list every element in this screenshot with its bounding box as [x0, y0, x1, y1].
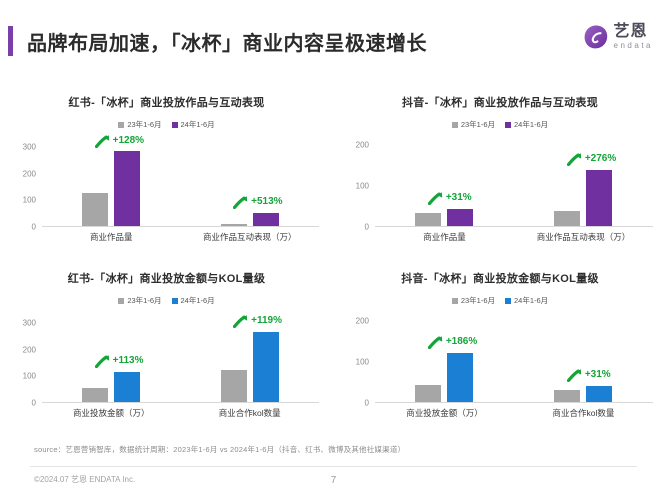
chart-title: 红书-「冰杯」商业投放金额与KOL量级	[0, 270, 333, 286]
legend-swatch-prev	[118, 298, 124, 304]
bar-group: 商业合作kol数量	[533, 315, 633, 402]
growth-annotation: +119%	[233, 313, 282, 328]
growth-value: +113%	[113, 355, 144, 366]
y-axis-tick: 0	[365, 223, 369, 232]
legend-label-curr: 24年1-6月	[514, 119, 548, 130]
legend-label-prev: 23年1-6月	[461, 295, 495, 306]
chart-panel-xiaohongshu-amount-kol: 红书-「冰杯」商业投放金额与KOL量级 23年1-6月 24年1-6月 0100…	[0, 254, 333, 430]
growth-value: +119%	[251, 315, 282, 326]
legend-label-prev: 23年1-6月	[461, 119, 495, 130]
growth-annotation: +128%	[95, 133, 144, 148]
legend-label-curr: 24年1-6月	[181, 119, 215, 130]
legend-item-prev: 23年1-6月	[452, 119, 495, 130]
y-axis: 0100200	[345, 139, 371, 247]
x-axis-category-label: 商业作品互动表现（万）	[537, 231, 631, 243]
chart-legend: 23年1-6月 24年1-6月	[333, 119, 667, 130]
page-number: 7	[0, 475, 667, 486]
bar-curr-year[interactable]	[253, 332, 279, 402]
y-axis-tick: 0	[365, 399, 369, 408]
growth-annotation: +513%	[233, 194, 282, 209]
bar-group: 商业投放金额（万）	[394, 315, 494, 402]
y-axis-tick: 0	[32, 223, 36, 232]
legend-item-prev: 23年1-6月	[118, 295, 161, 306]
x-axis-category-label: 商业合作kol数量	[553, 407, 615, 419]
plot-area: 0100200 商业作品量+31%商业作品互动表现（万）+276%	[345, 139, 655, 247]
bar-curr-year[interactable]	[114, 372, 140, 402]
growth-annotation: +113%	[95, 353, 144, 368]
chart-title: 红书-「冰杯」商业投放作品与互动表现	[0, 94, 333, 110]
bar-prev-year[interactable]	[554, 390, 580, 402]
charts-grid: 红书-「冰杯」商业投放作品与互动表现 23年1-6月 24年1-6月 01002…	[0, 78, 667, 430]
logo-text-en: endata	[614, 42, 653, 50]
y-axis: 0100200	[345, 315, 371, 423]
chart-legend: 23年1-6月 24年1-6月	[333, 295, 667, 306]
y-axis-tick: 200	[23, 345, 36, 354]
bar-curr-year[interactable]	[447, 209, 473, 226]
chart-title: 抖音-「冰杯」商业投放金额与KOL量级	[333, 270, 667, 286]
y-axis-tick: 100	[356, 358, 369, 367]
chart-legend: 23年1-6月 24年1-6月	[0, 295, 333, 306]
growth-value: +31%	[585, 369, 611, 380]
y-axis-tick: 200	[356, 141, 369, 150]
plot-area: 0100200300 商业作品量+128%商业作品互动表现（万）+513%	[12, 139, 321, 247]
legend-swatch-prev	[452, 298, 458, 304]
bar-curr-year[interactable]	[586, 386, 612, 402]
bars-container: 商业作品量+31%商业作品互动表现（万）+276%	[375, 139, 653, 227]
bar-curr-year[interactable]	[114, 151, 140, 226]
legend-swatch-curr	[505, 122, 511, 128]
y-axis: 0100200300	[12, 139, 38, 247]
brand-logo: 艺恩 endata	[583, 24, 653, 50]
y-axis: 0100200300	[12, 315, 38, 423]
plot-area: 0100200 商业投放金额（万）+186%商业合作kol数量+31%	[345, 315, 655, 423]
legend-swatch-curr	[172, 298, 178, 304]
bar-group: 商业作品互动表现（万）	[200, 139, 300, 226]
legend-item-curr: 24年1-6月	[172, 119, 215, 130]
footer-divider	[30, 466, 637, 467]
legend-label-curr: 24年1-6月	[514, 295, 548, 306]
x-axis-category-label: 商业作品互动表现（万）	[203, 231, 297, 243]
chart-panel-douyin-works: 抖音-「冰杯」商业投放作品与互动表现 23年1-6月 24年1-6月 01002…	[333, 78, 667, 254]
source-note: source：艺恩营销智库，数据统计周期：2023年1-6月 vs 2024年1…	[34, 444, 405, 455]
bar-prev-year[interactable]	[554, 211, 580, 226]
bar-prev-year[interactable]	[415, 385, 441, 402]
growth-annotation: +186%	[428, 334, 477, 349]
growth-value: +513%	[251, 196, 282, 207]
y-axis-tick: 0	[32, 399, 36, 408]
x-axis-category-label: 商业作品量	[90, 231, 133, 243]
page-title: 品牌布局加速，「冰杯」商业内容呈极速增长	[27, 27, 427, 56]
growth-annotation: +31%	[428, 190, 472, 205]
legend-label-curr: 24年1-6月	[181, 295, 215, 306]
growth-annotation: +31%	[567, 367, 611, 382]
legend-swatch-prev	[118, 122, 124, 128]
growth-value: +186%	[446, 336, 477, 347]
bar-prev-year[interactable]	[415, 213, 441, 226]
endata-logo-icon	[583, 24, 609, 50]
bar-curr-year[interactable]	[586, 170, 612, 226]
y-axis-tick: 100	[23, 196, 36, 205]
bar-prev-year[interactable]	[221, 224, 247, 226]
x-axis-category-label: 商业投放金额（万）	[73, 407, 150, 419]
chart-title: 抖音-「冰杯」商业投放作品与互动表现	[333, 94, 667, 110]
growth-value: +276%	[585, 153, 616, 164]
logo-text-cn: 艺恩	[614, 24, 648, 40]
chart-panel-xiaohongshu-works: 红书-「冰杯」商业投放作品与互动表现 23年1-6月 24年1-6月 01002…	[0, 78, 333, 254]
bars-container: 商业投放金额（万）+113%商业合作kol数量+119%	[42, 315, 319, 403]
x-axis-category-label: 商业作品量	[423, 231, 466, 243]
legend-label-prev: 23年1-6月	[127, 295, 161, 306]
chart-panel-douyin-amount-kol: 抖音-「冰杯」商业投放金额与KOL量级 23年1-6月 24年1-6月 0100…	[333, 254, 667, 430]
y-axis-tick: 200	[23, 169, 36, 178]
bars-container: 商业作品量+128%商业作品互动表现（万）+513%	[42, 139, 319, 227]
bar-prev-year[interactable]	[82, 388, 108, 402]
chart-legend: 23年1-6月 24年1-6月	[0, 119, 333, 130]
y-axis-tick: 300	[23, 143, 36, 152]
y-axis-tick: 300	[23, 319, 36, 328]
growth-value: +128%	[113, 135, 144, 146]
growth-value: +31%	[446, 192, 472, 203]
y-axis-tick: 100	[356, 182, 369, 191]
legend-swatch-prev	[452, 122, 458, 128]
legend-swatch-curr	[172, 122, 178, 128]
growth-annotation: +276%	[567, 151, 616, 166]
x-axis-category-label: 商业合作kol数量	[219, 407, 281, 419]
bar-group: 商业作品量	[61, 139, 161, 226]
x-axis-category-label: 商业投放金额（万）	[406, 407, 483, 419]
legend-label-prev: 23年1-6月	[127, 119, 161, 130]
bars-container: 商业投放金额（万）+186%商业合作kol数量+31%	[375, 315, 653, 403]
legend-item-curr: 24年1-6月	[172, 295, 215, 306]
bar-prev-year[interactable]	[221, 370, 247, 402]
y-axis-tick: 100	[23, 372, 36, 381]
y-axis-tick: 200	[356, 317, 369, 326]
bar-curr-year[interactable]	[253, 213, 279, 226]
bar-group: 商业作品量	[394, 139, 494, 226]
legend-swatch-curr	[505, 298, 511, 304]
legend-item-prev: 23年1-6月	[452, 295, 495, 306]
bar-prev-year[interactable]	[82, 193, 108, 226]
bar-curr-year[interactable]	[447, 353, 473, 402]
legend-item-prev: 23年1-6月	[118, 119, 161, 130]
title-accent-bar	[8, 26, 13, 56]
page-header: 品牌布局加速，「冰杯」商业内容呈极速增长 艺恩 endata	[0, 18, 667, 64]
legend-item-curr: 24年1-6月	[505, 119, 548, 130]
plot-area: 0100200300 商业投放金额（万）+113%商业合作kol数量+119%	[12, 315, 321, 423]
legend-item-curr: 24年1-6月	[505, 295, 548, 306]
